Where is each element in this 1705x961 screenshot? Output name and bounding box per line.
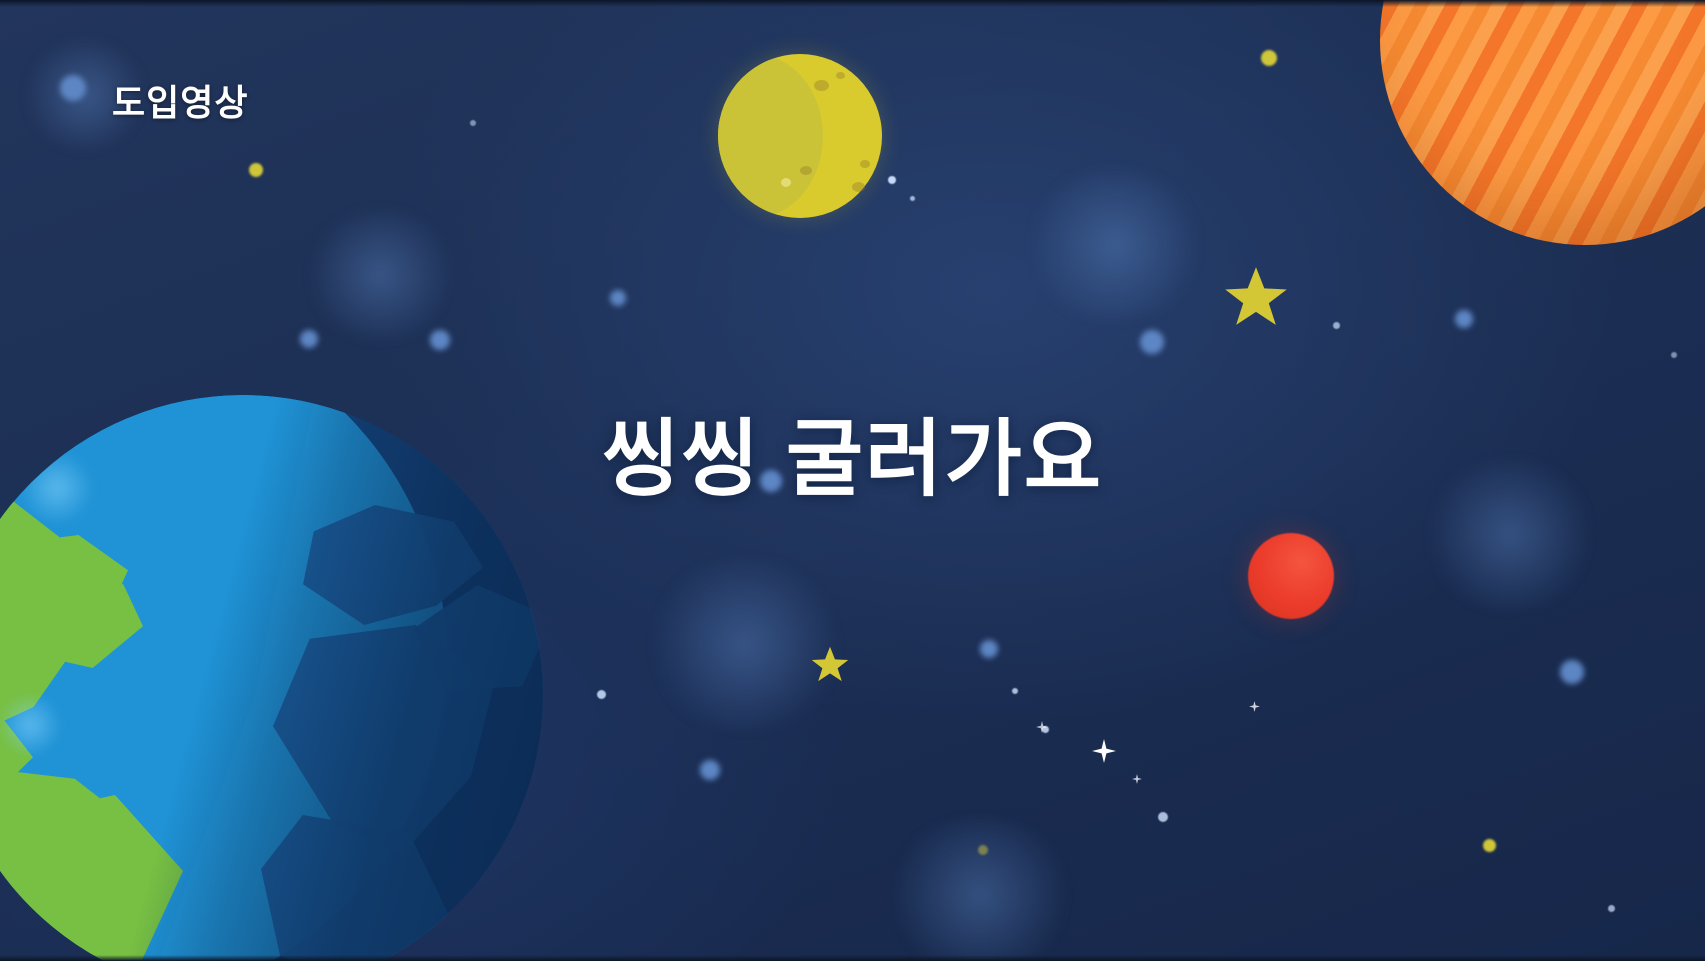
moon-crater	[800, 166, 812, 175]
nebula-glow	[300, 210, 460, 340]
star-dot	[1560, 660, 1584, 684]
moon-crater	[814, 80, 829, 91]
star-dot	[980, 640, 998, 658]
moon-crater-highlight	[781, 178, 791, 187]
moon-crater	[836, 72, 845, 79]
star-dot	[1671, 352, 1677, 358]
nebula-glow	[1020, 170, 1210, 320]
sparkle-icon	[1036, 721, 1048, 733]
star-dot	[430, 330, 450, 350]
planet-icon-red	[1248, 533, 1334, 619]
star-dot	[1012, 688, 1018, 694]
moon-icon	[718, 54, 882, 218]
star-dot	[597, 690, 606, 699]
star-icon	[1224, 266, 1288, 328]
moon-crater	[852, 182, 865, 192]
nebula-glow	[880, 820, 1080, 961]
video-frame-stage: 도입영상 씽씽 굴러가요	[0, 0, 1705, 961]
star-dot	[910, 196, 915, 201]
star-dot	[888, 176, 896, 184]
moon-lit-crescent	[718, 54, 882, 218]
star-icon-small	[978, 845, 988, 855]
star-icon-small	[1483, 839, 1496, 852]
planet-icon-orange	[1380, 0, 1705, 245]
star-dot	[610, 290, 626, 306]
moon-crater	[860, 160, 870, 168]
sparkle-icon	[1132, 774, 1142, 784]
page-title: 씽씽 굴러가요	[0, 392, 1705, 513]
nebula-glow	[640, 560, 850, 730]
star-icon	[811, 646, 849, 683]
sparkle-icon	[1092, 739, 1116, 763]
star-icon-small	[1261, 50, 1277, 66]
star-icon-small	[249, 163, 263, 177]
star-dot	[700, 760, 720, 780]
star-dot	[470, 120, 476, 126]
star-dot	[1158, 812, 1168, 822]
star-dot	[1140, 330, 1164, 354]
sparkle-icon	[1249, 701, 1260, 712]
star-dot	[300, 330, 318, 348]
intro-video-label: 도입영상	[112, 74, 248, 126]
star-dot	[1333, 322, 1340, 329]
star-dot	[1455, 310, 1473, 328]
star-dot	[60, 75, 86, 101]
star-dot	[1608, 905, 1615, 912]
